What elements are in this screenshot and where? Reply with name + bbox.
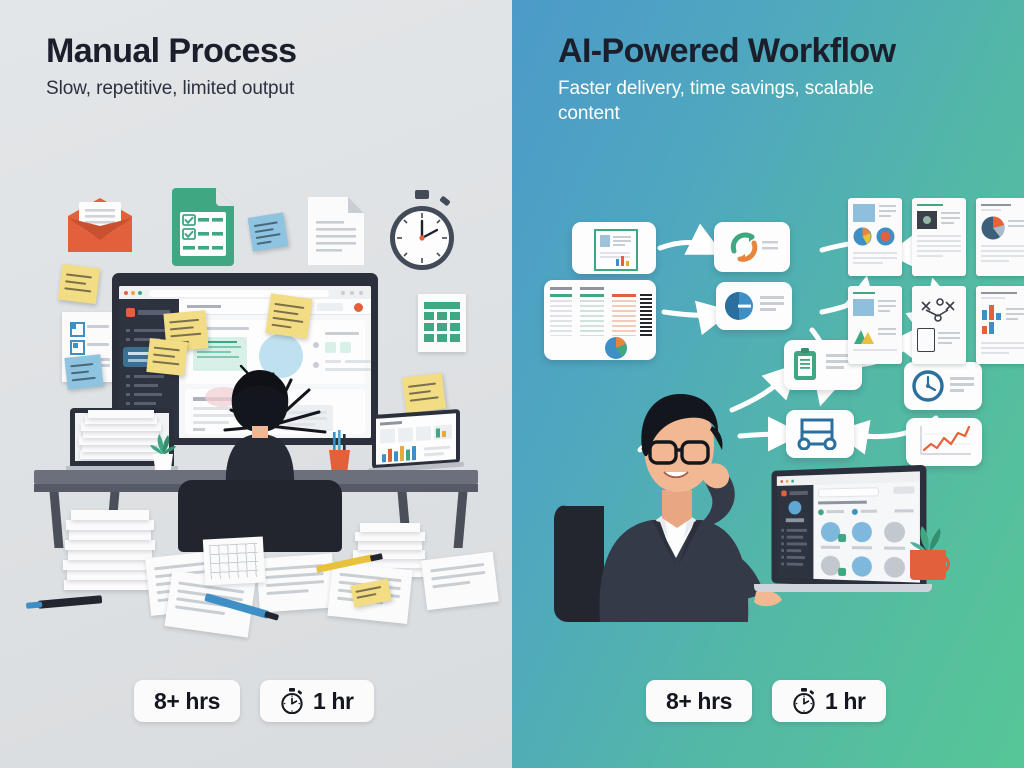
output-doc-tile[interactable] bbox=[976, 198, 1024, 276]
badge-time-saved-label: 1 hr bbox=[825, 688, 866, 715]
sticky-note bbox=[402, 373, 446, 414]
potted-plant bbox=[148, 432, 178, 474]
left-header: Manual Process Slow, repetitive, limited… bbox=[46, 34, 486, 101]
refresh-cycle-card[interactable] bbox=[714, 222, 790, 272]
pie-segment-card[interactable] bbox=[716, 282, 792, 330]
badge-time-saved[interactable]: 1 hr bbox=[260, 680, 374, 722]
output-doc-tile[interactable] bbox=[912, 198, 966, 276]
sticky-note bbox=[265, 293, 312, 338]
sticky-note bbox=[248, 212, 289, 251]
right-subtitle: Faster delivery, time savings, scalable … bbox=[558, 76, 918, 127]
badge-hours-label: 8+ hrs bbox=[666, 688, 732, 715]
spreadsheet-printout bbox=[418, 294, 466, 352]
document-page-icon bbox=[308, 197, 364, 265]
right-badges: 8+ hrs bbox=[646, 680, 886, 722]
right-header: AI-Powered Workflow Faster delivery, tim… bbox=[558, 34, 998, 126]
left-title: Manual Process bbox=[46, 34, 486, 70]
output-doc-tile[interactable] bbox=[912, 286, 966, 364]
email-envelope-icon bbox=[64, 196, 136, 256]
badge-time-saved[interactable]: 1 hr bbox=[772, 680, 886, 722]
paper-stack bbox=[62, 508, 158, 590]
checklist-spreadsheet-icon bbox=[172, 188, 234, 266]
paper-grid-sheet bbox=[203, 536, 265, 585]
output-document-grid bbox=[848, 198, 1024, 364]
sticky-note bbox=[64, 354, 103, 390]
comparison-illustration: Manual Process Slow, repetitive, limited… bbox=[0, 0, 1024, 768]
badge-hours[interactable]: 8+ hrs bbox=[134, 680, 240, 722]
paper-sheet bbox=[421, 552, 499, 610]
manual-process-panel: Manual Process Slow, repetitive, limited… bbox=[0, 0, 512, 768]
paper-sheet bbox=[256, 553, 336, 612]
sticky-note bbox=[58, 264, 100, 304]
black-pen bbox=[38, 595, 102, 609]
badge-hours-label: 8+ hrs bbox=[154, 688, 220, 715]
badge-hours[interactable]: 8+ hrs bbox=[646, 680, 752, 722]
stopwatch-icon bbox=[280, 688, 304, 714]
badge-time-saved-label: 1 hr bbox=[313, 688, 354, 715]
left-badges: 8+ hrs bbox=[134, 680, 374, 722]
tablet-with-charts bbox=[372, 409, 460, 477]
output-doc-tile[interactable] bbox=[976, 286, 1024, 364]
orange-mug-with-plant bbox=[902, 518, 964, 584]
left-subtitle: Slow, repetitive, limited output bbox=[46, 76, 486, 101]
ai-workflow-panel: AI-Powered Workflow Faster delivery, tim… bbox=[512, 0, 1024, 768]
clock-gauge-card[interactable] bbox=[904, 362, 982, 410]
output-doc-tile[interactable] bbox=[848, 198, 902, 276]
stopwatch-icon bbox=[792, 688, 816, 714]
line-chart-card[interactable] bbox=[906, 418, 982, 466]
desk-leg bbox=[454, 492, 468, 548]
input-data-table-card[interactable] bbox=[544, 280, 656, 360]
right-title: AI-Powered Workflow bbox=[558, 34, 998, 70]
sticky-note bbox=[146, 338, 187, 376]
output-doc-tile[interactable] bbox=[848, 286, 902, 364]
input-document-card[interactable] bbox=[572, 222, 656, 274]
wall-clock-stopwatch-icon bbox=[382, 188, 462, 274]
